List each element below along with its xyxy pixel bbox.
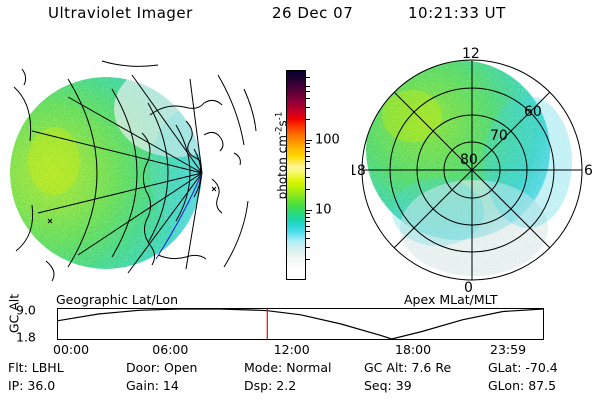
timeline-title-left: Geographic Lat/Lon	[56, 292, 178, 307]
colorbar-major-tick	[306, 140, 312, 141]
colorbar-minor-tick	[306, 226, 310, 227]
colorbar-tick-label: 10	[315, 204, 332, 217]
status-label: Seq:	[364, 378, 392, 393]
colorbar-group: photon cm-2s-1 10010	[264, 60, 354, 292]
status-value: 7.6 Re	[408, 360, 452, 375]
status-field-gcalt: GC Alt: 7.6 Re	[364, 360, 451, 375]
orbit-timeline-panel[interactable]: Geographic Lat/Lon Apex MLat/MLT GC Alt …	[0, 292, 600, 354]
colorbar-minor-tick	[306, 107, 310, 108]
colorbar-minor-tick	[306, 119, 310, 120]
colorbar-minor-tick	[306, 156, 310, 157]
status-label: Mode:	[244, 360, 282, 375]
mlat-label-80: 80	[460, 152, 478, 168]
status-field-flt: Flt: LBHL	[8, 360, 64, 375]
orbit-altitude-curve	[58, 309, 543, 339]
status-value: Normal	[282, 360, 331, 375]
status-field-dsp: Dsp: 2.2	[244, 378, 296, 393]
status-value: 39	[392, 378, 412, 393]
status-value: -70.4	[521, 360, 557, 375]
colorbar-minor-tick	[306, 91, 310, 92]
status-field-ip: IP: 36.0	[8, 378, 55, 393]
aurora-emission-layer	[8, 45, 258, 295]
status-value: 87.5	[524, 378, 556, 393]
uvi-display-window: Ultraviolet Imager 26 Dec 07 10:21:33 UT	[0, 0, 600, 400]
status-readout: Flt: LBHLDoor: OpenMode: NormalGC Alt: 7…	[0, 360, 600, 400]
timeline-xtick-label: 12:00	[274, 342, 310, 357]
status-label: GLat:	[488, 360, 521, 375]
colorbar-minor-tick	[306, 231, 310, 232]
colorbar-minor-tick	[306, 238, 310, 239]
geographic-image-svg	[8, 45, 258, 295]
status-label: Gain:	[126, 378, 159, 393]
colorbar-tick-label: 100	[315, 134, 340, 147]
status-label: IP:	[8, 378, 23, 393]
colorbar-minor-tick	[306, 98, 310, 99]
status-value: 2.2	[272, 378, 296, 393]
mlt-label-6: 6	[584, 163, 593, 179]
colorbar-minor-tick	[306, 259, 310, 260]
status-value: 14	[159, 378, 179, 393]
status-label: Dsp:	[244, 378, 272, 393]
colorbar-minor-tick	[306, 86, 310, 87]
status-label: GC Alt:	[364, 360, 408, 375]
colorbar-minor-tick	[306, 247, 310, 248]
mlt-spokes	[362, 60, 582, 280]
status-field-glon: GLon: 87.5	[488, 378, 556, 393]
status-label: Door:	[126, 360, 160, 375]
colorbar-minor-tick	[306, 147, 310, 148]
colorbar-minor-tick	[306, 161, 310, 162]
orbit-altitude-plot[interactable]	[57, 308, 544, 340]
timeline-ytick-low: 1.8	[16, 330, 36, 345]
colorbar-minor-tick	[306, 151, 310, 152]
geographic-auroral-panel[interactable]	[8, 45, 258, 295]
timeline-xtick-label: 00:00	[53, 342, 89, 357]
colorbar-minor-tick	[306, 221, 310, 222]
colorbar-gradient[interactable]	[286, 70, 306, 280]
timeline-xtick-label: 06:00	[152, 342, 188, 357]
colorbar-minor-tick	[306, 189, 310, 190]
colorbar-minor-tick	[306, 177, 310, 178]
status-field-seq: Seq: 39	[364, 378, 412, 393]
mlt-label-12: 12	[462, 46, 480, 62]
colorbar-minor-tick	[306, 213, 310, 214]
colorbar-major-tick	[306, 210, 312, 211]
colorbar-minor-tick	[306, 217, 310, 218]
status-label: Flt:	[8, 360, 28, 375]
status-field-glat: GLat: -70.4	[488, 360, 558, 375]
timeline-ytick-high: 9.0	[16, 303, 36, 318]
instrument-title: Ultraviolet Imager	[48, 4, 193, 22]
status-value: LBHL	[28, 360, 64, 375]
header-bar: Ultraviolet Imager 26 Dec 07 10:21:33 UT	[0, 4, 600, 30]
mlat-label-60: 60	[524, 104, 542, 120]
observation-date: 26 Dec 07	[272, 4, 353, 22]
apex-dial-svg: 12 6 0 18 60 70 80	[352, 42, 600, 294]
apex-mlat-mlt-panel[interactable]: 12 6 0 18 60 70 80	[352, 42, 600, 294]
apex-aurora-layer	[352, 42, 600, 294]
status-label: GLon:	[488, 378, 524, 393]
status-field-mode: Mode: Normal	[244, 360, 331, 375]
status-field-door: Door: Open	[126, 360, 197, 375]
timeline-xtick-label: 23:59	[490, 342, 526, 357]
colorbar-minor-tick	[306, 168, 310, 169]
colorbar-minor-tick	[306, 143, 310, 144]
mlat-label-70: 70	[490, 128, 508, 144]
timeline-xtick-label: 18:00	[395, 342, 431, 357]
mlt-label-18: 18	[352, 163, 366, 179]
status-field-gain: Gain: 14	[126, 378, 179, 393]
observation-time: 10:21:33 UT	[408, 4, 506, 22]
colorbar-minor-tick	[306, 77, 310, 78]
orbit-altitude-svg	[58, 309, 543, 339]
status-value: 36.0	[23, 378, 55, 393]
timeline-title-right: Apex MLat/MLT	[404, 292, 498, 307]
status-value: Open	[160, 360, 197, 375]
